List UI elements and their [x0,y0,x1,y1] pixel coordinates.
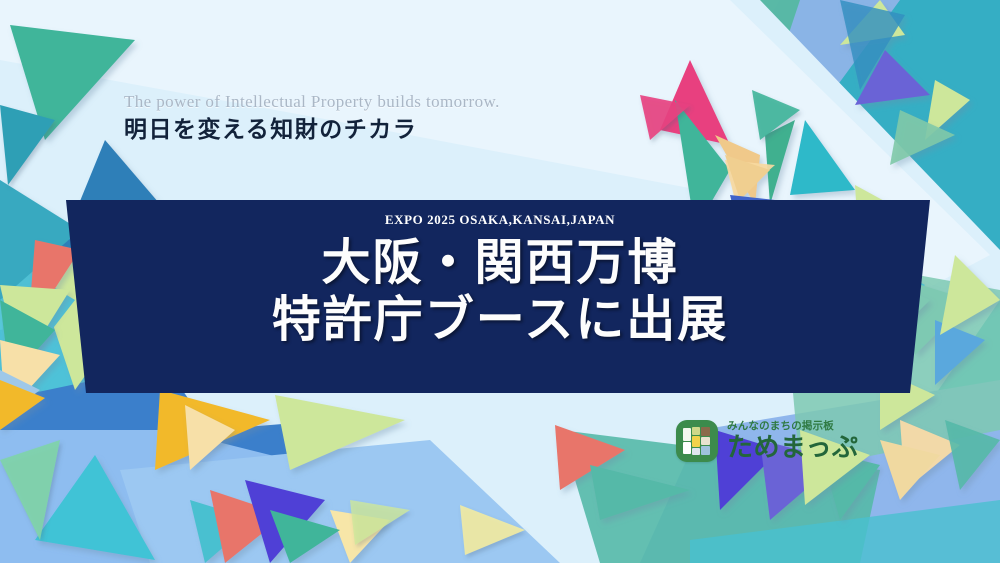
tagline-english: The power of Intellectual Property build… [124,92,500,112]
headline-line-1: 大阪・関西万博 [321,233,678,291]
tagline-japanese: 明日を変える知財のチカラ [124,116,500,144]
tamemap-bulletin-board-icon [676,420,718,462]
logo-subtitle: みんなのまちの掲示板 [727,421,858,432]
headline-line-2: 特許庁ブースに出展 [0,291,1000,348]
logo-name: ためまっぷ [727,435,858,461]
expo-eyebrow-label: EXPO 2025 OSAKA,KANSAI,JAPAN [0,213,1000,226]
promo-banner-image: The power of Intellectual Property build… [0,0,1000,563]
logo-text-block: みんなのまちの掲示板 ためまっぷ [727,421,858,461]
tagline-block: The power of Intellectual Property build… [124,92,500,144]
page-title: 大阪・関西万博 特許庁ブースに出展 [0,234,1000,348]
banner-text-block: EXPO 2025 OSAKA,KANSAI,JAPAN 大阪・関西万博 特許庁… [0,213,1000,348]
tamemap-logo[interactable]: みんなのまちの掲示板 ためまっぷ [676,420,858,462]
